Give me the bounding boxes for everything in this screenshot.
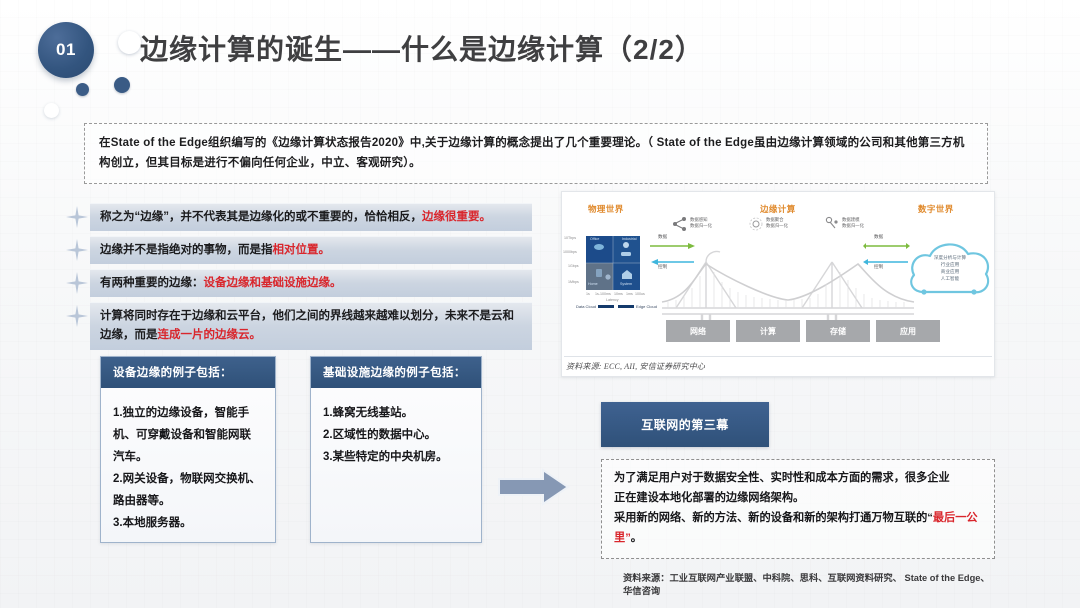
figure-flow-label-data-right: 数据 <box>874 234 883 240</box>
card-body: 1.独立的边缘设备，智能手 机、可穿戴设备和智能网联 汽车。 2.网关设备，物联… <box>101 388 275 546</box>
figure-cloud-text: 深度分析与计算行业应用商业应用人工智能 <box>917 254 983 282</box>
figure-icon-label-2: 数据聚合数据归一化 <box>766 217 788 229</box>
slide-canvas: 01 边缘计算的诞生——什么是边缘计算（2/2） 在State of the E… <box>0 0 1080 608</box>
card-line: 3.本地服务器。 <box>113 512 263 534</box>
figure-capability-bar: 网络 <box>666 320 730 342</box>
figure-capability-bar: 应用 <box>876 320 940 342</box>
figure-mini-legend-data: Data Cloud <box>576 304 596 309</box>
card-line: 机、可穿戴设备和智能网联 <box>113 424 263 446</box>
section-number-label: 01 <box>56 40 76 60</box>
intro-note-text: 在State of the Edge组织编写的《边缘计算状态报告2020》中,关… <box>99 133 975 173</box>
list-item-highlight: 设备边缘和基础设施边缘。 <box>204 277 342 289</box>
source-footer-line-2: 华信咨询 <box>623 585 1043 598</box>
card-line: 路由器等。 <box>113 490 263 512</box>
card-line: 汽车。 <box>113 446 263 468</box>
list-item-highlight: 边缘很重要。 <box>422 211 491 223</box>
figure-mini-legend-edge: Edge Cloud <box>636 304 657 309</box>
figure-divider <box>564 356 992 357</box>
figure-flow-label-ctrl-left: 控制 <box>658 264 667 270</box>
intro-note-box: 在State of the Edge组织编写的《边缘计算状态报告2020》中,关… <box>84 123 988 184</box>
sparkle-icon <box>64 270 90 296</box>
key-points-list: 称之为“边缘”，并不代表其是边缘化的或不重要的，恰恰相反，边缘很重要。 边缘并不… <box>64 203 532 355</box>
card-line: 2.网关设备，物联网交换机、 <box>113 468 263 490</box>
list-item: 边缘并不是指绝对的事物，而是指相对位置。 <box>64 236 532 264</box>
list-item-plain: 称之为“边缘”，并不代表其是边缘化的或不重要的，恰恰相反， <box>100 211 422 223</box>
conclusion-line-2: 正在建设本地化部署的边缘网络架构。 <box>614 488 983 508</box>
figure-capability-bar: 存储 <box>806 320 870 342</box>
card-body: 1.蜂窝无线基站。 2.区域性的数据中心。 3.某些特定的中央机房。 <box>311 388 481 480</box>
conclusion-note-box: 为了满足用户对于数据安全性、实时性和成本方面的需求，很多企业 正在建设本地化部署… <box>601 459 995 559</box>
decorative-dot-blue-medium <box>114 77 130 93</box>
figure-zone-title-edge: 边缘计算 <box>760 203 796 215</box>
decorative-dot-blue-small <box>76 83 89 96</box>
list-item-text: 称之为“边缘”，并不代表其是边缘化的或不重要的，恰恰相反，边缘很重要。 <box>90 203 532 231</box>
conclusion-line-3-tail: 。 <box>631 532 642 544</box>
figure-zone-title-digital: 数字世界 <box>918 203 954 215</box>
card-title: 设备边缘的例子包括： <box>101 357 275 388</box>
figure-icon-label-1: 数据感知数据归一化 <box>690 217 712 229</box>
edge-computing-architecture-figure: 物理世界 边缘计算 数字世界 Office Industrial Home Sy… <box>561 191 995 377</box>
figure-quadrant-chart: Office Industrial Home System <box>586 236 640 290</box>
card-line: 1.独立的边缘设备，智能手 <box>113 402 263 424</box>
sparkle-icon <box>64 204 90 230</box>
device-edge-examples-card: 设备边缘的例子包括： 1.独立的边缘设备，智能手 机、可穿戴设备和智能网联 汽车… <box>100 356 276 543</box>
list-item-text: 有两种重要的边缘：设备边缘和基础设施边缘。 <box>90 269 532 297</box>
source-footer-line-1: 资料来源：工业互联网产业联盟、中科院、思科、互联网资料研究、 State of … <box>623 572 1043 585</box>
source-footer: 资料来源：工业互联网产业联盟、中科院、思科、互联网资料研究、 State of … <box>623 572 1043 598</box>
card-line: 1.蜂窝无线基站。 <box>323 402 469 424</box>
list-item: 有两种重要的边缘：设备边缘和基础设施边缘。 <box>64 269 532 297</box>
card-line: 3.某些特定的中央机房。 <box>323 446 469 468</box>
figure-capability-bar: 计算 <box>736 320 800 342</box>
card-title: 基础设施边缘的例子包括： <box>311 357 481 388</box>
list-item-highlight: 相对位置。 <box>273 244 331 256</box>
list-item-text: 边缘并不是指绝对的事物，而是指相对位置。 <box>90 236 532 264</box>
decorative-dot-white-large <box>118 31 141 54</box>
list-item-plain: 边缘并不是指绝对的事物，而是指 <box>100 244 273 256</box>
conclusion-line-1: 为了满足用户对于数据安全性、实时性和成本方面的需求，很多企业 <box>614 468 983 488</box>
list-item-highlight: 连成一片的边缘云。 <box>158 329 262 341</box>
third-act-banner: 互联网的第三幕 <box>601 402 769 447</box>
page-title: 边缘计算的诞生——什么是边缘计算（2/2） <box>140 28 704 68</box>
conclusion-line-3: 采用新的网络、新的方法、新的设备和新的架构打通万物互联的“最后一公里”。 <box>614 508 983 548</box>
sparkle-icon <box>64 237 90 263</box>
sparkle-icon <box>64 303 90 329</box>
list-item-plain: 有两种重要的边缘： <box>100 277 204 289</box>
list-item: 计算将同时存在于边缘和云平台，他们之间的界线越来越难以划分，未来不是云和边缘，而… <box>64 302 532 350</box>
figure-icon-label-3: 数据建模数据归一化 <box>842 217 864 229</box>
card-line: 2.区域性的数据中心。 <box>323 424 469 446</box>
figure-capability-bars: 网络 计算 存储 应用 <box>666 320 940 342</box>
right-arrow-icon <box>497 466 571 513</box>
figure-flow-label-ctrl-right: 控制 <box>874 264 883 270</box>
figure-flow-label-data-left: 数据 <box>658 234 667 240</box>
figure-source-label: 资料来源: ECC, AII, 安信证券研究中心 <box>566 361 705 372</box>
list-item-text: 计算将同时存在于边缘和云平台，他们之间的界线越来越难以划分，未来不是云和边缘，而… <box>90 302 532 350</box>
figure-mini-legend: Data CloudEdge Cloud <box>576 304 657 309</box>
section-number-badge: 01 <box>38 22 94 78</box>
figure-quadrant-x-axis: Latency <box>606 298 619 302</box>
conclusion-line-3-plain: 采用新的网络、新的方法、新的设备和新的架构打通万物互联的“ <box>614 512 933 524</box>
figure-zone-title-physical: 物理世界 <box>588 203 624 215</box>
decorative-dot-white-small <box>44 103 59 118</box>
infrastructure-edge-examples-card: 基础设施边缘的例子包括： 1.蜂窝无线基站。 2.区域性的数据中心。 3.某些特… <box>310 356 482 543</box>
third-act-label: 互联网的第三幕 <box>641 416 729 433</box>
list-item: 称之为“边缘”，并不代表其是边缘化的或不重要的，恰恰相反，边缘很重要。 <box>64 203 532 231</box>
